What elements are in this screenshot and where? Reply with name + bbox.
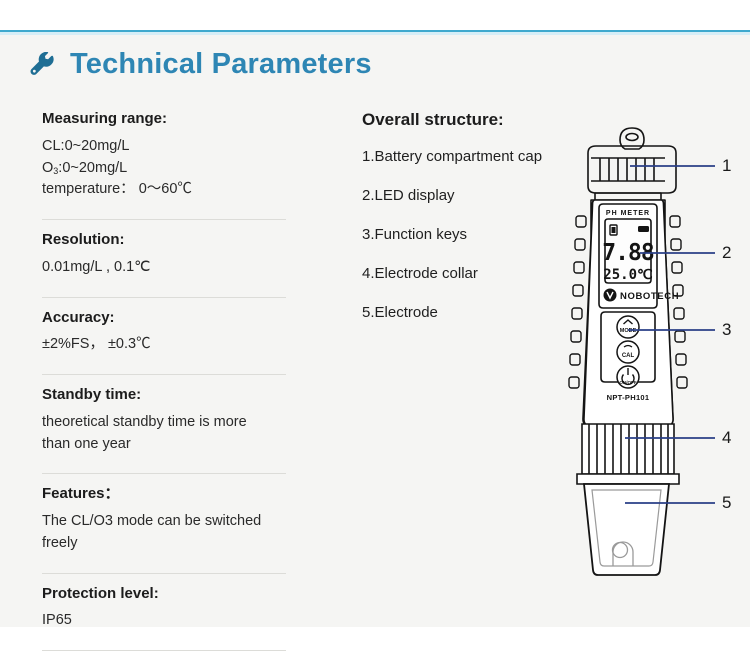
power-button-label: ON/OFF [619,380,637,385]
callout-number-3: 3 [722,320,731,340]
spec-value: theoretical standby time is more [42,412,286,434]
spec-item-measuring-range: Measuring range: CL:0~20mg/L O3:0~20mg/L… [42,110,286,210]
callout-number-4: 4 [722,428,731,448]
spec-heading: Resolution: [42,231,286,250]
grip-nubs-left [569,216,586,388]
spec-divider [42,650,286,651]
spec-divider [42,374,286,375]
spec-heading: Protection level: [42,585,286,604]
spec-item-standby-time: Standby time: theoretical standby time i… [42,386,286,464]
electrode-cap [584,484,669,575]
callout-number-5: 5 [722,493,731,513]
spec-value: O3:0~20mg/L [42,158,286,180]
spec-divider [42,297,286,298]
spec-divider [42,219,286,220]
device-model: NPT-PH101 [607,393,650,402]
spec-divider [42,473,286,474]
spec-value: The CL/O3 mode can be switched freely [42,511,286,555]
page-title-text: Technical Parameters [70,50,372,79]
collar-flange [577,474,679,484]
battery-compartment-cap [588,146,676,200]
device-illustration: 7.88 25.0℃ PH METER NOBOTECH MODE [525,118,750,588]
callout-number-2: 2 [722,243,731,263]
spec-heading: Standby time: [42,386,286,405]
spec-heading: Features： [42,485,286,504]
mode-button-label: MODE [620,328,637,334]
ph-meter-drawing: 7.88 25.0℃ PH METER NOBOTECH MODE [525,118,750,588]
cal-button[interactable]: CAL [617,341,639,363]
wrench-icon [30,52,56,78]
spec-item-resolution: Resolution: 0.01mg/L , 0.1℃ [42,231,286,288]
subscript-3: 3 [53,166,58,176]
callout-number-1: 1 [722,156,731,176]
cal-button-label: CAL [622,353,635,359]
power-button[interactable]: ON/OFF [617,366,639,388]
mode-button[interactable]: MODE [617,316,639,338]
lcd-signal-icon [638,226,649,232]
product-spec-page: Technical Parameters Measuring range: CL… [0,0,750,661]
spec-heading: Accuracy: [42,309,286,328]
spec-item-accuracy: Accuracy: ±2%FS， ±0.3℃ [42,309,286,366]
spec-value: 0.01mg/L , 0.1℃ [42,257,286,279]
spec-value: than one year [42,434,286,456]
spec-value: CL:0~20mg/L [42,136,286,158]
page-title: Technical Parameters [30,50,372,79]
brand-mark [604,289,617,302]
electrode-collar [582,424,674,474]
grip-nubs-right [670,216,687,388]
lcd-temperature: 25.0℃ [603,267,653,283]
spec-item-features: Features： The CL/O3 mode can be switched… [42,485,286,563]
spec-item-protection-level: Protection level: IP65 [42,585,286,642]
brand-name: NOBOTECH [620,291,679,302]
spec-value: temperature： 0～60℃ [42,179,286,201]
spec-value: IP65 [42,610,286,632]
spec-heading: Measuring range: [42,110,286,129]
device-top-label: PH METER [606,210,650,217]
spec-value: ±2%FS， ±0.3℃ [42,334,286,356]
spec-divider [42,573,286,574]
spec-list: Measuring range: CL:0~20mg/L O3:0~20mg/L… [42,110,286,662]
